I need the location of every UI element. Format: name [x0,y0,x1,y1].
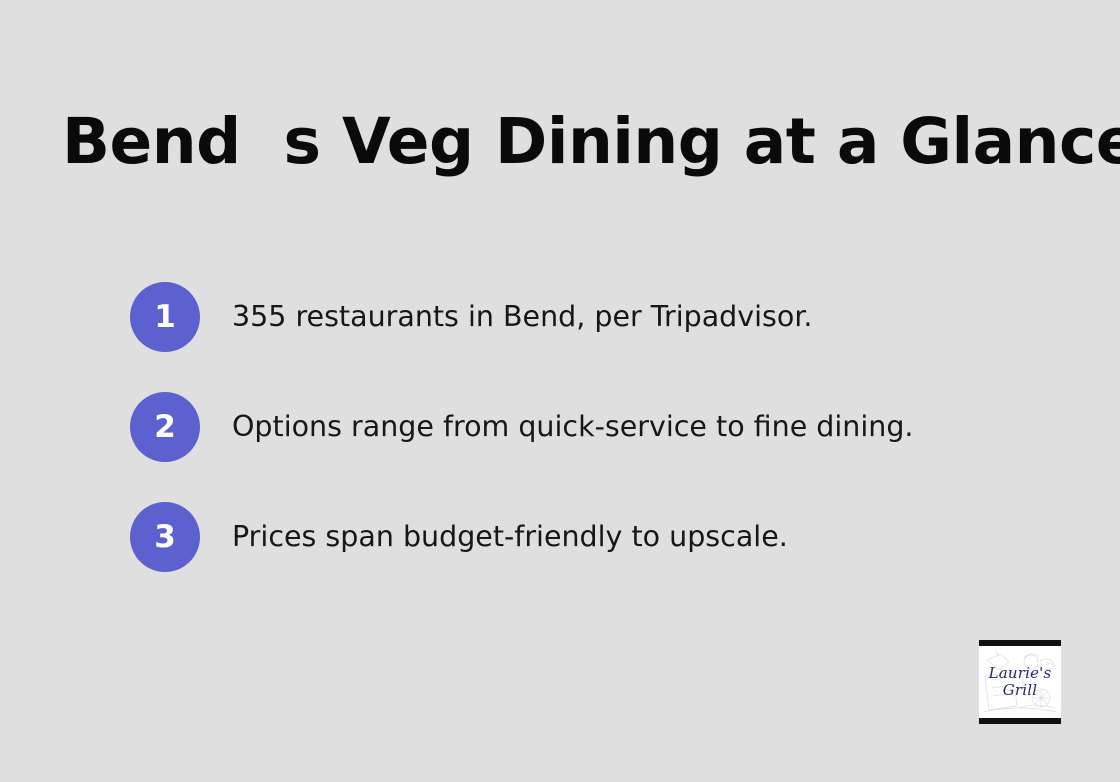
list-item-label: 355 restaurants in Bend, per Tripadvisor… [232,299,813,335]
list-item-label: Options range from quick-service to fine… [232,409,914,445]
list-number-badge: 3 [130,502,200,572]
logo-bottom-bar [979,718,1061,724]
list-number-badge: 2 [130,392,200,462]
list-item: 2 Options range from quick-service to fi… [130,392,1030,462]
slide-canvas: Bend s Veg Dining at a Glance 1 355 rest… [0,0,1120,782]
logo-line-2: Grill [1003,683,1038,698]
list-item-label: Prices span budget-friendly to upscale. [232,519,788,555]
list-item: 1 355 restaurants in Bend, per Tripadvis… [130,282,1030,352]
page-title: Bend s Veg Dining at a Glance [62,108,1058,176]
list-item: 3 Prices span budget-friendly to upscale… [130,502,1030,572]
logo-wordmark: Laurie's Grill [979,640,1061,724]
brand-logo: Laurie's Grill [979,640,1061,724]
list-number-badge: 1 [130,282,200,352]
numbered-list: 1 355 restaurants in Bend, per Tripadvis… [130,282,1030,612]
logo-line-1: Laurie's [989,666,1052,681]
